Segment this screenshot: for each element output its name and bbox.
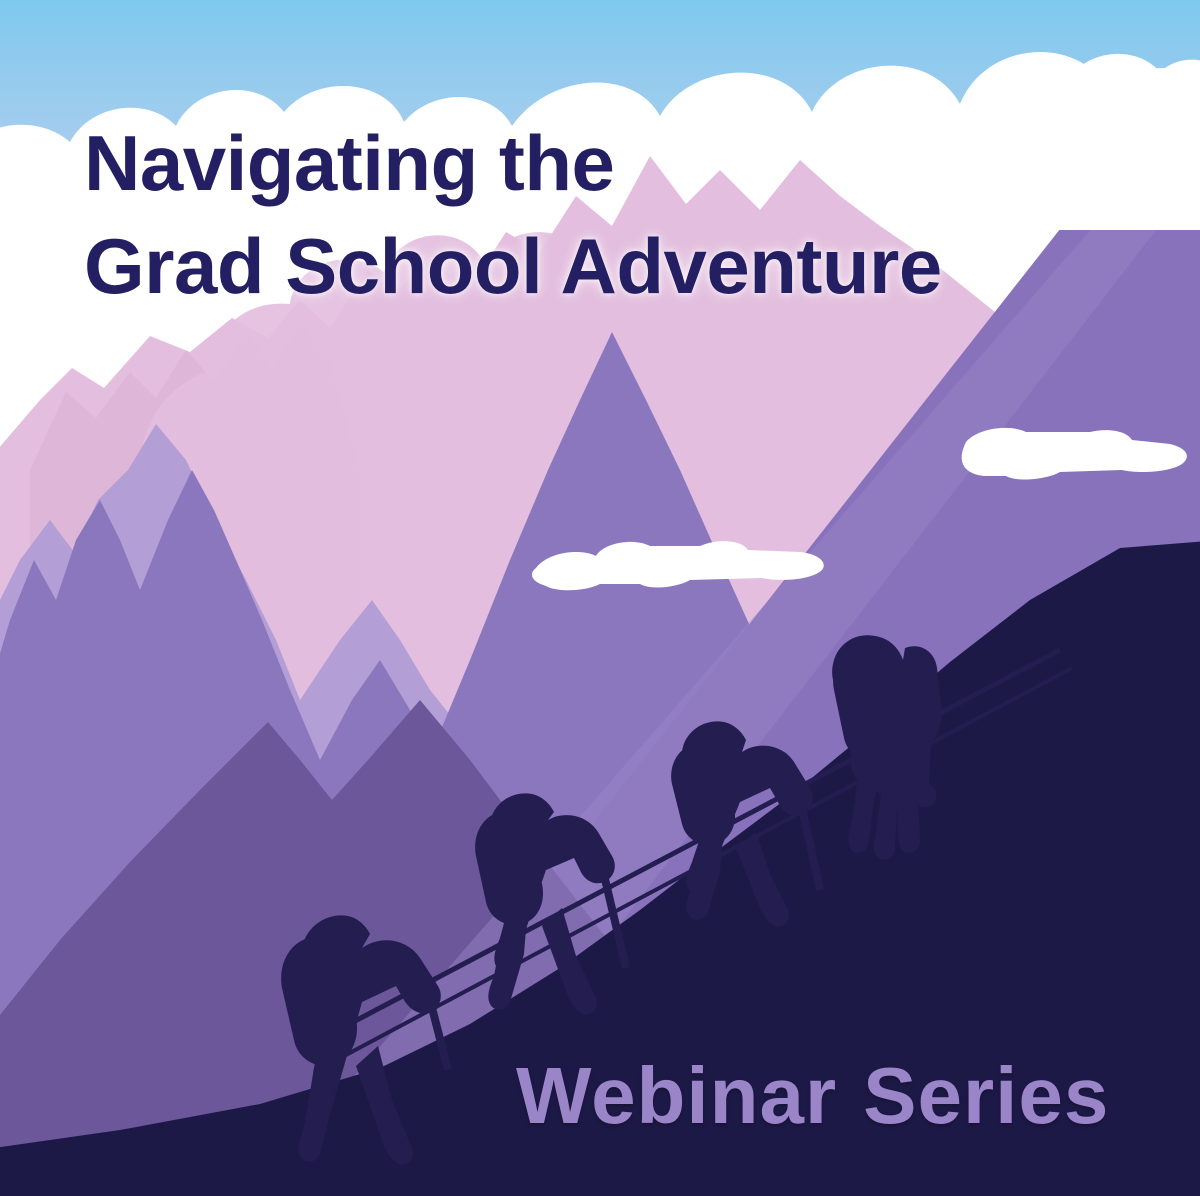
poster-canvas: Navigating the Grad School Adventure Web… xyxy=(0,0,1200,1196)
series-text-row: WebinarSeries xyxy=(516,1056,1109,1136)
title-line-1: Navigating the xyxy=(84,112,1094,215)
title-line-2: Grad School Adventure xyxy=(84,215,1094,318)
series-word-1: Webinar xyxy=(516,1051,837,1140)
series-word-2: Series xyxy=(863,1051,1109,1140)
poster-title: Navigating the Grad School Adventure xyxy=(84,112,1094,318)
series-label: WebinarSeries xyxy=(516,1056,1109,1136)
